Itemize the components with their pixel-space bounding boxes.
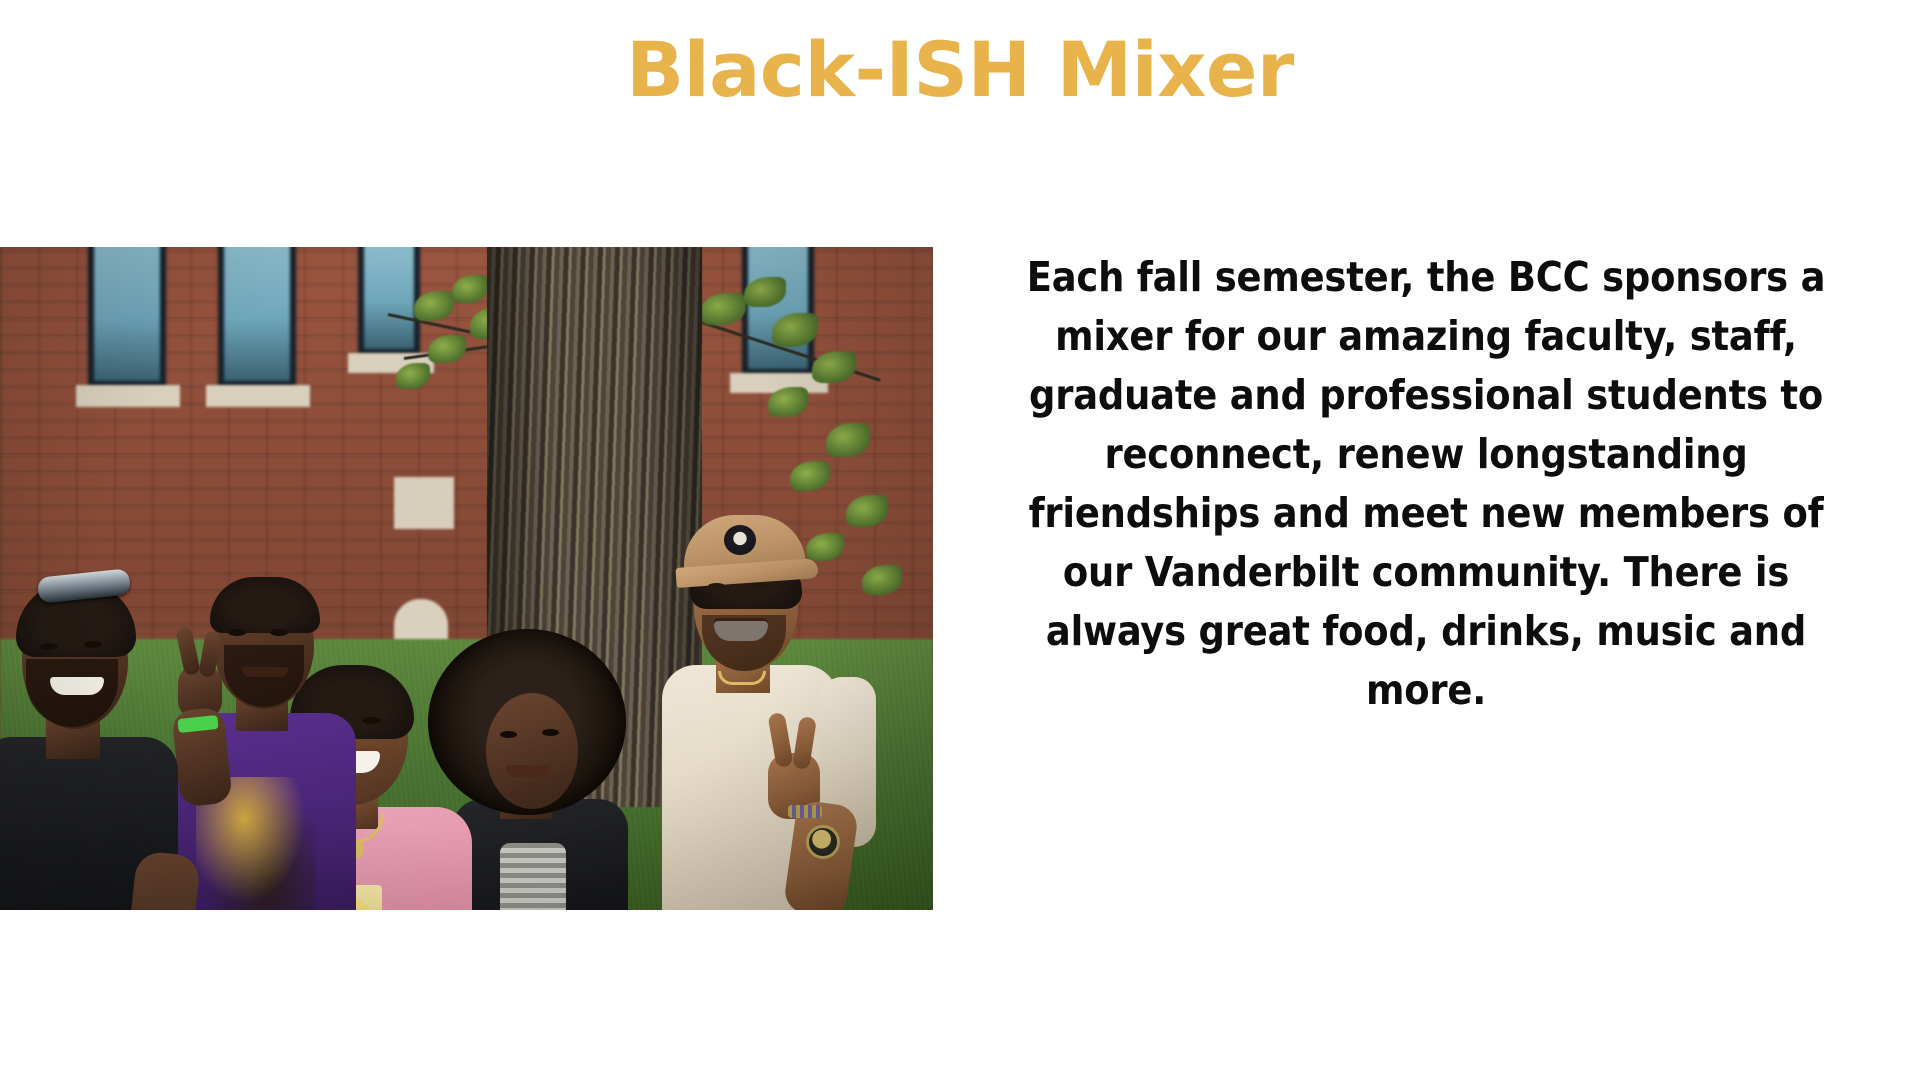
event-photo xyxy=(0,247,933,910)
page-title: Black-ISH Mixer xyxy=(0,28,1920,112)
description-paragraph: Each fall semester, the BCC sponsors a m… xyxy=(1020,248,1832,720)
photo-vignette xyxy=(0,247,933,910)
slide-canvas: Black-ISH Mixer xyxy=(0,0,1920,1080)
